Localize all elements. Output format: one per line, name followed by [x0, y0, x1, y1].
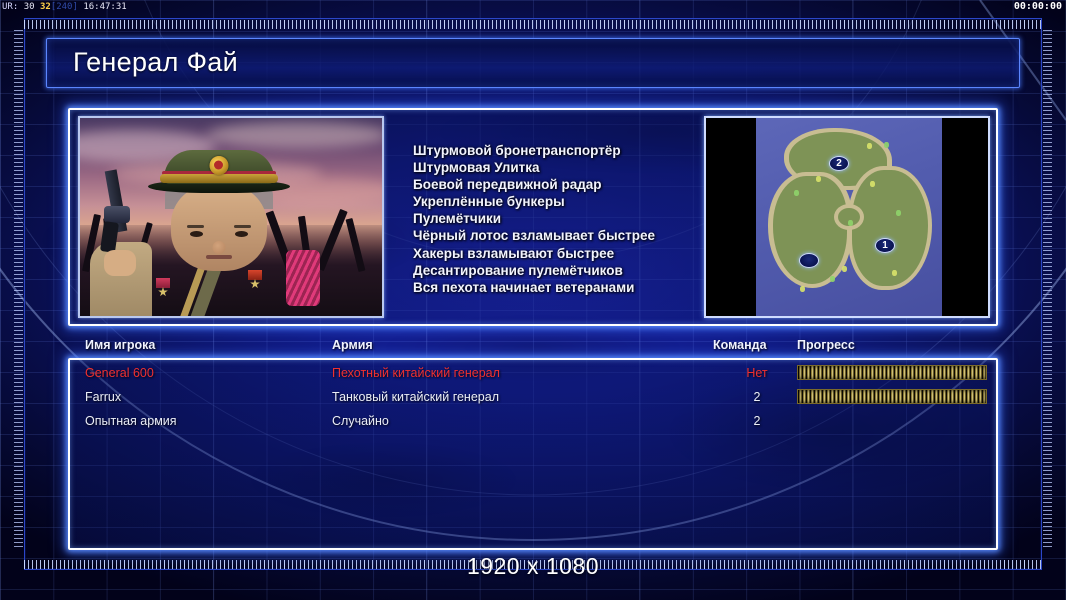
ability-item: Вся пехота начинает ветеранами — [413, 279, 655, 296]
match-clock: 00:00:00 — [1014, 1, 1062, 13]
player-team[interactable]: 2 — [733, 385, 781, 409]
minimap-resource — [830, 276, 835, 282]
portrait-hand — [104, 250, 136, 276]
column-header-player: Имя игрока — [85, 338, 155, 352]
page-title: Генерал Фай — [73, 47, 238, 78]
player-team[interactable]: Нет — [733, 361, 781, 385]
portrait-eye — [190, 231, 203, 237]
ability-item: Хакеры взламывают быстрее — [413, 245, 655, 262]
minimap-resource — [896, 210, 901, 216]
player-name: General 600 — [85, 361, 154, 385]
players-table-header: Имя игрока Армия Команда Прогресс — [68, 338, 998, 358]
players-table-body: General 600 Пехотный китайский генерал Н… — [68, 358, 998, 550]
minimap-resource — [842, 266, 847, 272]
player-army[interactable]: Пехотный китайский генерал — [332, 361, 500, 385]
player-army[interactable]: Случайно — [332, 409, 389, 433]
minimap-resource — [892, 270, 897, 276]
ability-item: Чёрный лотос взламывает быстрее — [413, 227, 655, 244]
fps-frame: 32 — [40, 2, 51, 12]
ability-item: Десантирование пулемётчиков — [413, 262, 655, 279]
portrait-nose — [212, 241, 225, 254]
portrait-cap-emblem — [209, 156, 228, 175]
session-time: 16:47:31 — [83, 2, 126, 12]
top-status-bar: UR: 30 32[240] 16:47:31 00:00:00 — [0, 0, 1066, 14]
player-name: Опытная армия — [85, 409, 177, 433]
portrait-face — [171, 183, 267, 271]
title-panel: Генерал Фай — [46, 38, 1020, 88]
minimap-image: 2 1 — [756, 118, 942, 316]
column-header-army: Армия — [332, 338, 373, 352]
minimap-resource — [800, 286, 805, 292]
ability-item: Штурмовой бронетранспортёр — [413, 142, 655, 159]
portrait-medal — [156, 278, 170, 288]
portrait-revolver-cylinder — [104, 206, 130, 223]
minimap-resource — [816, 176, 821, 182]
portrait-medal — [248, 270, 262, 280]
player-progress-bar — [797, 389, 987, 404]
fps-readout: UR: 30 32[240] 16:47:31 — [2, 1, 127, 13]
player-army[interactable]: Танковый китайский генерал — [332, 385, 499, 409]
portrait-cloud — [207, 122, 384, 148]
minimap-resource — [848, 220, 853, 226]
ability-item: Укреплённые бункеры — [413, 193, 655, 210]
minimap-resource — [867, 143, 872, 149]
resolution-label: 1920 x 1080 — [0, 553, 1066, 580]
player-team[interactable]: 2 — [733, 409, 781, 433]
ability-item: Боевой передвижной радар — [413, 176, 655, 193]
player-progress-bar — [797, 365, 987, 380]
portrait-cap-goldband — [160, 174, 278, 183]
fps-value: 30 — [24, 2, 35, 12]
game-screen: UR: 30 32[240] 16:47:31 00:00:00 Генерал… — [0, 0, 1066, 600]
minimap-start-marker: 2 — [829, 156, 849, 171]
column-header-team: Команда — [713, 338, 767, 352]
minimap-start-marker-empty — [799, 253, 819, 268]
ability-item: Пулемётчики — [413, 210, 655, 227]
portrait-eye — [235, 231, 248, 237]
portrait-brow — [187, 225, 204, 228]
fps-prefix: UR: — [2, 2, 18, 12]
portrait-mouth — [206, 255, 232, 259]
fps-bracket: [240] — [51, 2, 78, 12]
portrait-brow — [234, 225, 251, 228]
minimap-start-marker: 1 — [875, 238, 895, 253]
column-header-progress: Прогресс — [797, 338, 855, 352]
player-name: Farrux — [85, 385, 121, 409]
minimap-resource — [794, 190, 799, 196]
general-abilities-list: Штурмовой бронетранспортёр Штурмовая Ули… — [413, 142, 655, 296]
minimap-preview[interactable]: 2 1 — [704, 116, 990, 318]
minimap-resource — [870, 181, 875, 187]
minimap-resource — [884, 142, 889, 148]
ability-item: Штурмовая Улитка — [413, 159, 655, 176]
portrait-epaulette — [286, 250, 320, 306]
table-row[interactable]: Farrux Танковый китайский генерал 2 — [68, 385, 998, 409]
table-row[interactable]: Опытная армия Случайно 2 — [68, 409, 998, 433]
general-portrait — [78, 116, 384, 318]
table-row[interactable]: General 600 Пехотный китайский генерал Н… — [68, 361, 998, 385]
portrait-military-cap — [158, 150, 280, 194]
